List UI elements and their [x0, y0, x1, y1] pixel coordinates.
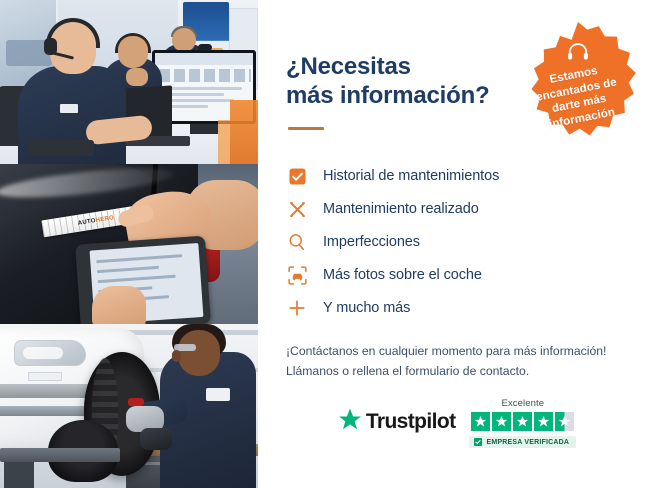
- page-title-line-1: ¿Necesitas: [286, 53, 411, 80]
- trustpilot-star-icon: [338, 408, 362, 436]
- checkbox-checked-icon: [286, 165, 308, 187]
- vehicle-inspection-photo: AUTOHERO: [0, 164, 258, 324]
- info-panel: AUTOHERO: [0, 0, 650, 488]
- star-half: [555, 412, 574, 431]
- promo-badge: Estamos encantados de darte más informac…: [516, 22, 640, 146]
- plus-icon: [286, 297, 308, 319]
- star-rating: [471, 412, 574, 431]
- contact-line-2: Llámanos o rellena el formulario de cont…: [286, 364, 529, 378]
- star-filled: [492, 412, 511, 431]
- feature-label: Más fotos sobre el coche: [323, 267, 482, 283]
- feature-list: Historial de mantenimientos M: [286, 160, 626, 325]
- trustpilot-wordmark: Trustpilot: [366, 410, 456, 434]
- star-filled: [471, 412, 490, 431]
- verified-check-icon: [474, 438, 482, 446]
- page-title: ¿Necesitas más información?: [286, 52, 536, 111]
- ruler-brand-hero: HERO: [95, 215, 114, 224]
- trustpilot-widget[interactable]: Trustpilot Excelente: [286, 398, 628, 448]
- tools-cross-icon: [286, 198, 308, 220]
- mechanic-wheel-photo: [0, 324, 258, 488]
- trustpilot-logo: Trustpilot: [338, 408, 456, 448]
- feature-item-historial[interactable]: Historial de mantenimientos: [286, 160, 626, 193]
- feature-label: Mantenimiento realizado: [323, 201, 479, 217]
- rating-label: Excelente: [502, 398, 545, 409]
- verified-label: EMPRESA VERIFICADA: [486, 439, 569, 446]
- verified-badge: EMPRESA VERIFICADA: [469, 436, 576, 448]
- star-filled: [513, 412, 532, 431]
- page-title-line-2: más información?: [286, 82, 490, 109]
- content-panel: ¿Necesitas más información? Estamos enca…: [258, 0, 650, 488]
- feature-item-imperfecciones[interactable]: Imperfecciones: [286, 226, 626, 259]
- contact-line-1: ¡Contáctanos en cualquier momento para m…: [286, 344, 606, 358]
- trustpilot-rating: Excelente: [469, 398, 576, 448]
- contact-text: ¡Contáctanos en cualquier momento para m…: [286, 341, 626, 381]
- feature-label: Historial de mantenimientos: [323, 168, 499, 184]
- call-center-agents-photo: [0, 0, 258, 164]
- feature-label: Imperfecciones: [323, 234, 420, 250]
- headset-icon: [567, 42, 589, 66]
- star-filled: [534, 412, 553, 431]
- feature-item-fotos[interactable]: Más fotos sobre el coche: [286, 259, 626, 292]
- feature-item-mas[interactable]: Y mucho más: [286, 292, 626, 325]
- car-frame-icon: [286, 264, 308, 286]
- photo-column: AUTOHERO: [0, 0, 258, 488]
- ruler-brand-auto: AUTO: [77, 218, 96, 227]
- title-divider: [288, 127, 324, 130]
- magnifier-icon: [286, 231, 308, 253]
- feature-item-mantenimiento[interactable]: Mantenimiento realizado: [286, 193, 626, 226]
- feature-label: Y mucho más: [323, 300, 410, 316]
